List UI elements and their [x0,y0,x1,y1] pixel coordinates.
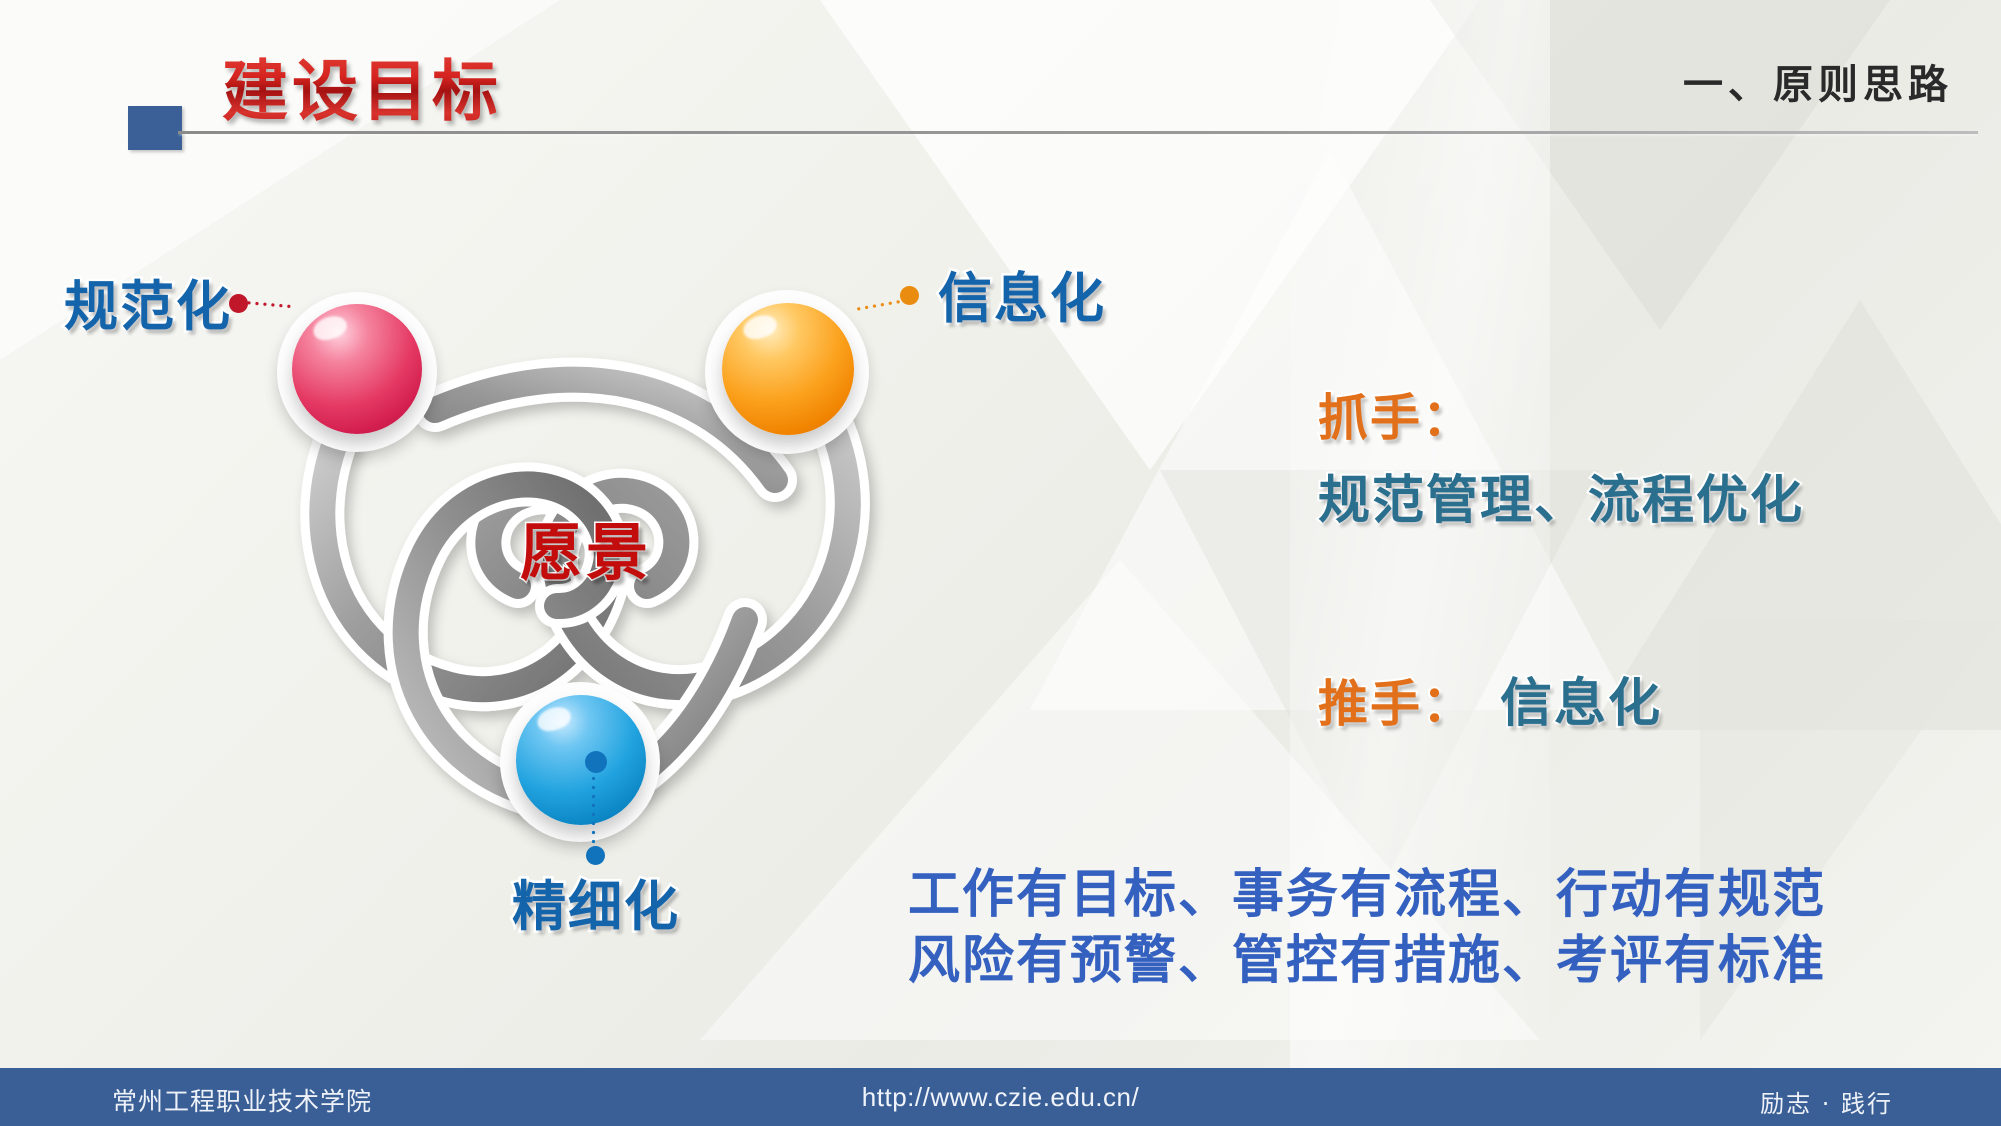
footer-url[interactable]: http://www.czie.edu.cn/ [862,1082,1139,1113]
footer-organization: 常州工程职业技术学院 [112,1082,372,1118]
node-sphere-xinxihua[interactable] [722,303,854,435]
node-label-xinxihua: 信息化 [938,254,1106,333]
slide-canvas: 建设目标 一、原则思路 [0,0,2001,1126]
slogan-line-1: 工作有目标、事务有流程、行动有规范 [908,862,1828,928]
slogan-block: 工作有目标、事务有流程、行动有规范 风险有预警、管控有措施、考评有标准 [908,862,1828,993]
key-value-block-zhuashou: 抓手： 规范管理、流程优化 [1318,378,1804,533]
footer-bar: 常州工程职业技术学院 http://www.czie.edu.cn/ 励志 · … [0,1068,2001,1126]
section-label: 一、原则思路 [1683,52,1953,110]
connector-line-jingxihua [591,756,596,848]
slogan-line-2: 风险有预警、管控有措施、考评有标准 [908,928,1828,994]
kv-key-zhuashou: 抓手： [1318,378,1804,450]
kv-value-zhuashou: 规范管理、流程优化 [1318,458,1804,533]
node-label-guifanhua: 规范化 [64,262,232,341]
page-title: 建设目标 [222,38,502,134]
diagram-center-label: 愿景 [520,502,652,592]
footer-motto: 励志 · 践行 [1760,1084,1893,1119]
node-sphere-guifanhua[interactable] [292,304,422,434]
connector-anchor-jingxihua [585,751,607,773]
background-triangle-upper-right [1430,0,1890,330]
header-accent-square [128,106,182,150]
node-label-jingxihua: 精细化 [512,862,680,941]
key-value-block-tuishou: 推手： 信息化 [1318,661,1662,736]
kv-value-tuishou: 信息化 [1500,661,1662,736]
node-sphere-jingxihua[interactable] [516,695,646,825]
kv-key-tuishou: 推手： [1318,664,1474,736]
